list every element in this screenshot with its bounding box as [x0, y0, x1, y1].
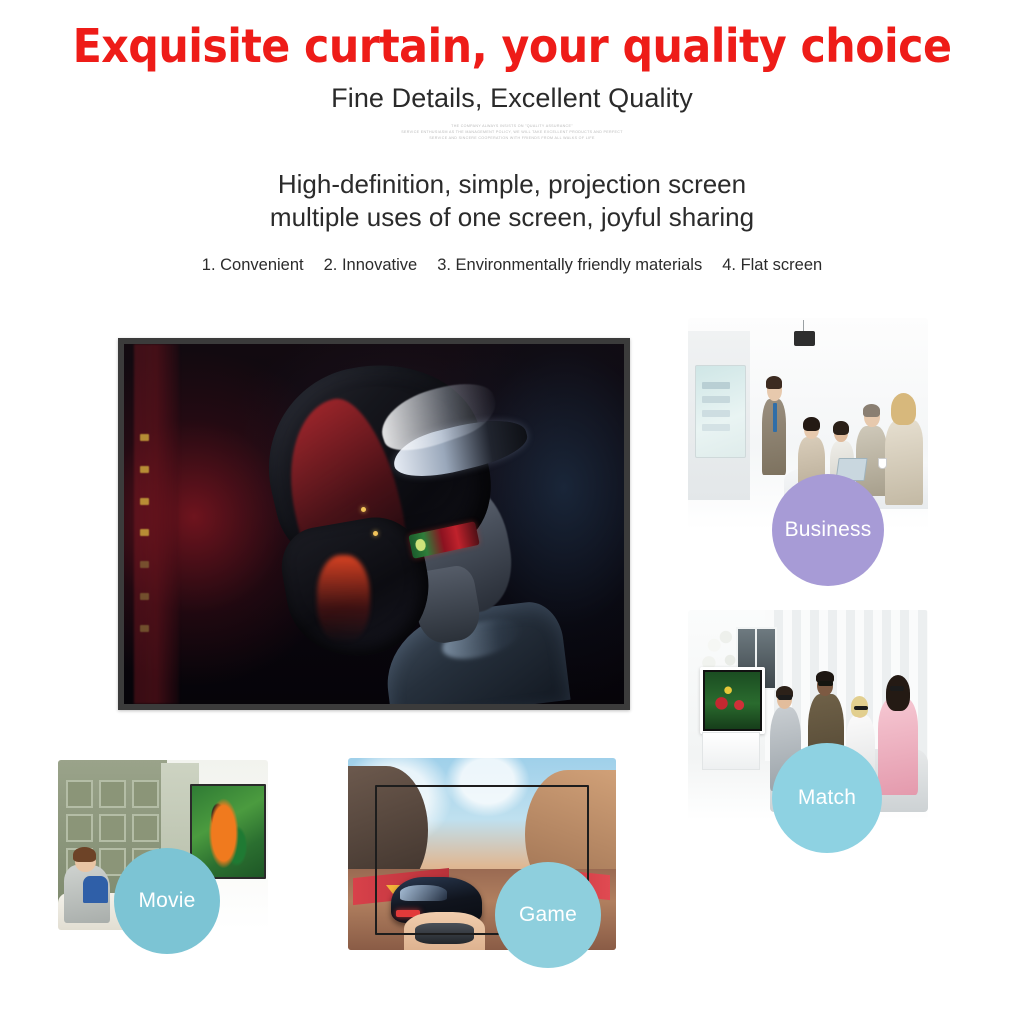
page-title: Exquisite curtain, your quality choice	[36, 22, 988, 71]
glyph-mark	[140, 434, 149, 441]
hero-glyph-column	[140, 434, 152, 632]
3d-glasses-icon	[778, 695, 792, 700]
usecase-badge-movie[interactable]: Movie	[114, 848, 220, 954]
glyph-mark	[140, 593, 149, 600]
glyph-mark	[140, 561, 149, 568]
glyph-mark	[140, 625, 149, 632]
helmet-jaw-glow	[317, 555, 370, 643]
wall-panel	[66, 780, 93, 808]
feature-item-2: 2. Innovative	[314, 256, 428, 275]
wall-panel	[99, 780, 126, 808]
viewer-hair	[73, 847, 96, 862]
wall-panel	[132, 814, 159, 842]
wall-panel	[132, 780, 159, 808]
product-description: High-definition, simple, projection scre…	[0, 168, 1024, 276]
presenter-hair	[766, 376, 782, 389]
wall-panel	[99, 814, 126, 842]
fineprint-line-3: SERVICE AND SINCERE COOPERATION WITH FRI…	[0, 135, 1024, 141]
helmet-indicator-light	[373, 531, 378, 536]
wall-panel	[66, 814, 93, 842]
presenter-tie	[773, 403, 777, 433]
television	[700, 667, 765, 734]
attendee-hair	[891, 393, 916, 425]
usecase-badge-match[interactable]: Match	[772, 743, 882, 853]
usecase-card-game[interactable]: Game	[348, 758, 616, 950]
feature-item-4: 4. Flat screen	[712, 256, 832, 275]
viewer-shirt	[83, 876, 108, 903]
hero-screen-surface	[124, 344, 624, 704]
attendee-hair	[803, 417, 819, 432]
game-controller-icon	[415, 923, 474, 944]
page-header: Exquisite curtain, your quality choice F…	[0, 0, 1024, 142]
television-screen	[705, 672, 760, 729]
feature-item-3: 3. Environmentally friendly materials	[427, 256, 712, 275]
attendee-hair	[833, 421, 848, 435]
description-line-1: High-definition, simple, projection scre…	[0, 168, 1024, 202]
company-fineprint: THE COMPANY ALWAYS INSISTS ON "QUALITY A…	[0, 123, 1024, 142]
helmet-indicator-light	[361, 507, 366, 512]
attendee-body	[885, 420, 923, 505]
description-line-2: multiple uses of one screen, joyful shar…	[0, 201, 1024, 235]
sci-fi-character	[249, 358, 559, 696]
feature-list: 1. Convenient 2. Innovative 3. Environme…	[0, 256, 1024, 275]
viewer-body	[878, 698, 919, 795]
usecase-card-match[interactable]: Match	[688, 610, 928, 820]
glyph-mark	[140, 529, 149, 536]
ceiling-projector-icon	[794, 331, 816, 346]
glyph-mark	[140, 466, 149, 473]
page-subtitle: Fine Details, Excellent Quality	[0, 83, 1024, 114]
tv-stand	[702, 732, 760, 770]
3d-glasses-icon	[854, 706, 867, 711]
3d-glasses-icon	[818, 681, 833, 686]
usecase-badge-game[interactable]: Game	[495, 862, 601, 968]
viewer-hair	[886, 675, 910, 711]
usecase-card-movie[interactable]: Movie	[58, 760, 268, 930]
glyph-mark	[140, 498, 149, 505]
feature-item-1: 1. Convenient	[192, 256, 314, 275]
coffee-cup-icon	[878, 458, 888, 469]
attendee-hair	[863, 404, 880, 417]
usecase-card-business[interactable]: Business	[688, 318, 928, 530]
hero-projection-screen	[118, 338, 630, 710]
wall-projection-screen	[695, 365, 745, 458]
3d-glasses-icon	[890, 686, 905, 691]
usecase-badge-business[interactable]: Business	[772, 474, 884, 586]
